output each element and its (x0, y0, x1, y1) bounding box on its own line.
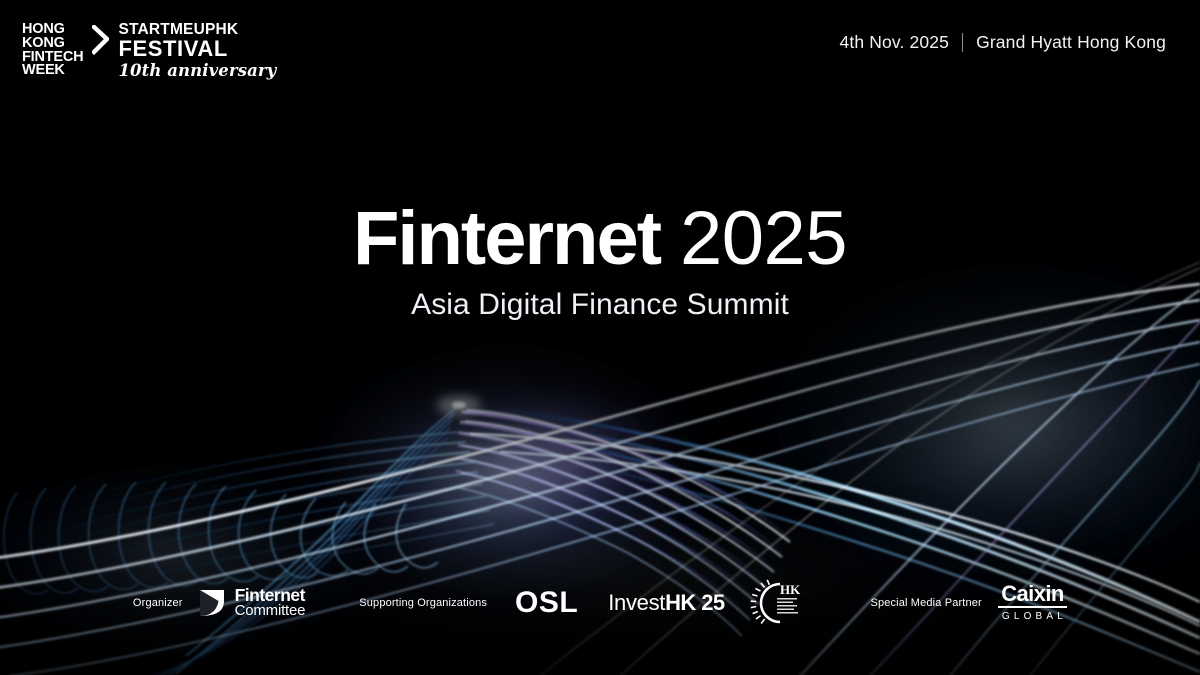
supporting-organizations-label: Supporting Organizations (359, 597, 487, 609)
event-date-venue: 4th Nov. 2025 Grand Hyatt Hong Kong (839, 32, 1166, 53)
hero-block: Finternet 2025 Asia Digital Finance Summ… (0, 196, 1200, 322)
festival-line: FESTIVAL (118, 38, 276, 60)
title-year: 2025 (680, 196, 847, 281)
header: HONG KONG FINTECH WEEK STARTMEUPHK FESTI… (0, 0, 1200, 105)
hong-kong-fintech-week-startmeuphk-logo[interactable]: HONG KONG FINTECH WEEK STARTMEUPHK FESTI… (22, 22, 276, 81)
sponsor-bar: Organizer Finternet Committee Supporting… (0, 579, 1200, 627)
osl-logo[interactable]: OSL (515, 586, 578, 620)
chevron-right-icon (92, 25, 109, 55)
caixin-global-logo[interactable]: Caixin GLOBAL (998, 583, 1067, 624)
organizer-label: Organizer (133, 597, 183, 609)
caixin-global-subtext: GLOBAL (998, 610, 1067, 624)
supporting-organizations-group: Supporting Organizations OSL InvestHK 25 (359, 579, 804, 627)
title-finternet: Finternet (353, 196, 660, 281)
meta-divider (962, 33, 963, 52)
finternet-committee-logo[interactable]: Finternet Committee (197, 588, 306, 618)
investhk-logo[interactable]: InvestHK 25 (608, 590, 724, 616)
svg-text:HK: HK (780, 582, 801, 597)
page-title: Finternet 2025 (0, 196, 1200, 282)
poster-stage: HONG KONG FINTECH WEEK STARTMEUPHK FESTI… (0, 0, 1200, 675)
fc-name-line-2: Committee (235, 603, 306, 618)
investhk-bold-part: HK 25 (665, 590, 724, 615)
event-venue: Grand Hyatt Hong Kong (976, 32, 1166, 53)
anniversary-line: 10th anniversary (118, 61, 276, 81)
investhk-light-part: Invest (608, 590, 665, 615)
hkfw-wordmark: HONG KONG FINTECH WEEK (22, 22, 83, 78)
media-partner-label: Special Media Partner (870, 597, 981, 609)
event-date: 4th Nov. 2025 (839, 32, 949, 53)
organizer-group: Organizer Finternet Committee (133, 588, 305, 618)
caixin-wordmark: Caixin (998, 583, 1067, 608)
hkfw-line-4: WEEK (22, 64, 83, 78)
finternet-committee-wordmark: Finternet Committee (235, 588, 306, 618)
fc-name-line-1: Finternet (235, 588, 306, 603)
media-partner-group: Special Media Partner Caixin GLOBAL (870, 583, 1067, 624)
page-subtitle: Asia Digital Finance Summit (0, 288, 1200, 322)
hktdc-seal-icon[interactable]: HK (750, 579, 804, 627)
finternet-quarter-circle-icon (197, 588, 227, 618)
startmeuphk-festival-wordmark: STARTMEUPHK FESTIVAL 10th anniversary (118, 22, 276, 81)
